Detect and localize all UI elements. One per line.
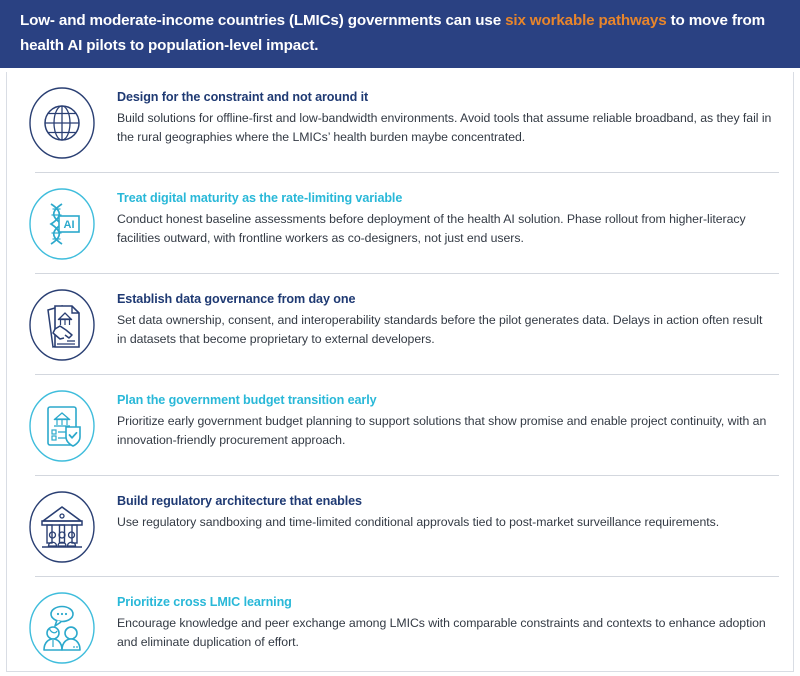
header-text-before: Low- and moderate-income countries (LMIC… <box>20 12 505 29</box>
header-highlight: six workable pathways <box>505 12 666 29</box>
pathway-row[interactable]: Establish data governance from day one S… <box>7 274 793 375</box>
pathway-title: Plan the government budget transition ea… <box>117 393 775 407</box>
pathway-text: Prioritize cross LMIC learning Encourage… <box>103 589 779 651</box>
pathway-description: Encourage knowledge and peer exchange am… <box>117 614 775 651</box>
pathway-title: Prioritize cross LMIC learning <box>117 595 775 609</box>
government-building-icon <box>21 488 103 566</box>
pathway-text: Treat digital maturity as the rate-limit… <box>103 185 779 247</box>
document-handshake-icon <box>21 286 103 364</box>
pathway-description: Use regulatory sandboxing and time-limit… <box>117 513 775 532</box>
pathway-text: Design for the constraint and not around… <box>103 84 779 146</box>
people-speech-bubble-icon <box>21 589 103 667</box>
globe-icon <box>21 84 103 162</box>
pathway-text: Establish data governance from day one S… <box>103 286 779 348</box>
header-title: Low- and moderate-income countries (LMIC… <box>0 9 800 58</box>
pathway-row[interactable]: AI Treat digital maturity as the rate-li… <box>7 173 793 274</box>
svg-text:AI: AI <box>64 219 75 231</box>
pathway-row[interactable]: Prioritize cross LMIC learning Encourage… <box>7 577 793 676</box>
infographic-page: Low- and moderate-income countries (LMIC… <box>0 0 800 676</box>
pathway-text: Build regulatory architecture that enabl… <box>103 488 779 532</box>
pathway-description: Set data ownership, consent, and interop… <box>117 311 775 348</box>
pathway-row[interactable]: Plan the government budget transition ea… <box>7 375 793 476</box>
pathway-title: Treat digital maturity as the rate-limit… <box>117 191 775 205</box>
dna-ai-icon: AI <box>21 185 103 263</box>
pathway-description: Build solutions for offline-first and lo… <box>117 109 775 146</box>
pathway-row[interactable]: Design for the constraint and not around… <box>7 72 793 173</box>
pathway-text: Plan the government budget transition ea… <box>103 387 779 449</box>
pathway-description: Conduct honest baseline assessments befo… <box>117 210 775 247</box>
pathway-title: Build regulatory architecture that enabl… <box>117 494 775 508</box>
pathway-row[interactable]: Build regulatory architecture that enabl… <box>7 476 793 577</box>
budget-checklist-shield-icon <box>21 387 103 465</box>
pathway-description: Prioritize early government budget plann… <box>117 412 775 449</box>
pathway-title: Design for the constraint and not around… <box>117 90 775 104</box>
header-banner: Low- and moderate-income countries (LMIC… <box>0 0 800 68</box>
pathways-list: Design for the constraint and not around… <box>6 72 794 672</box>
pathway-title: Establish data governance from day one <box>117 292 775 306</box>
